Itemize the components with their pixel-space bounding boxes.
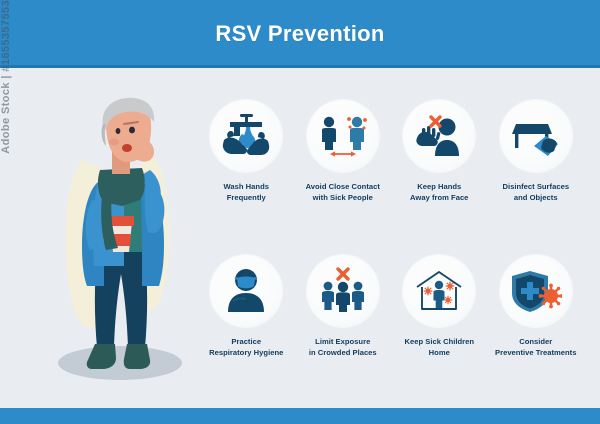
cheek-blush (109, 139, 119, 146)
social-distance-icon (317, 110, 369, 162)
tip-caption-line1: Practice (231, 337, 261, 346)
tip-icon-disc (307, 255, 379, 327)
tip-card-preventive-treatments[interactable]: Consider Preventive Treatments (488, 255, 585, 400)
eye (116, 128, 121, 134)
tip-caption-line1: Consider (519, 337, 552, 346)
tip-caption-line1: Keep Hands (417, 182, 461, 191)
tip-caption-line2: in Crowded Places (309, 348, 377, 357)
eye (129, 127, 135, 134)
tip-caption-line2: Respiratory Hygiene (209, 348, 283, 357)
tip-caption: Consider Preventive Treatments (489, 336, 583, 358)
tip-caption-line2: with Sick People (313, 193, 373, 202)
shield-cross-virus-icon (510, 265, 562, 317)
poster-header: RSV Prevention (0, 0, 600, 68)
tip-caption: Disinfect Surfaces and Objects (489, 181, 583, 203)
tip-card-hands-away-from-face[interactable]: Keep Hands Away from Face (391, 100, 488, 245)
person-healthy (322, 117, 336, 150)
tip-caption-line1: Keep Sick Children (404, 337, 474, 346)
tip-caption-line2: Preventive Treatments (495, 348, 576, 357)
tip-icon-disc (403, 255, 475, 327)
tip-card-respiratory-hygiene[interactable]: Practice Respiratory Hygiene (198, 255, 295, 400)
tip-caption-line2: and Objects (514, 193, 558, 202)
tip-icon-disc (210, 100, 282, 172)
tips-row-2: Practice Respiratory Hygiene (198, 255, 584, 400)
person-right (352, 282, 364, 310)
page-title: RSV Prevention (215, 21, 384, 47)
x-mark (431, 117, 440, 126)
shoe-left (87, 344, 116, 369)
poster-body: Wash Hands Frequently (0, 68, 600, 408)
no-touch-face-icon (413, 110, 465, 162)
reaching-hand (417, 126, 441, 146)
tip-icon-disc (210, 255, 282, 327)
tip-caption: Keep Sick Children Home (392, 336, 486, 358)
tip-caption-line1: Limit Exposure (315, 337, 370, 346)
virus-particle (538, 284, 561, 309)
house-person-virus-icon (413, 265, 465, 317)
tip-caption-line1: Avoid Close Contact (306, 182, 380, 191)
face-mask (237, 277, 255, 289)
tip-caption: Limit Exposure in Crowded Places (296, 336, 390, 358)
tip-caption-line2: Away from Face (410, 193, 468, 202)
tip-caption: Practice Respiratory Hygiene (199, 336, 293, 358)
tip-icon-disc (307, 100, 379, 172)
person-left (322, 282, 334, 310)
person-sick (350, 117, 364, 150)
tip-caption: Wash Hands Frequently (199, 181, 293, 203)
tip-caption-line1: Wash Hands (224, 182, 270, 191)
tip-card-wash-hands[interactable]: Wash Hands Frequently (198, 100, 295, 245)
tip-card-avoid-close-contact[interactable]: Avoid Close Contact with Sick People (295, 100, 392, 245)
wiping-cloth (534, 136, 558, 156)
tip-icon-disc (500, 255, 572, 327)
person-center (336, 282, 350, 312)
faucet-hands-icon (220, 110, 272, 162)
tip-card-sick-children-home[interactable]: Keep Sick Children Home (391, 255, 488, 400)
watermark-credit: Adobe Stock | #1655357553 (0, 0, 12, 154)
tip-card-limit-crowds[interactable]: Limit Exposure in Crowded Places (295, 255, 392, 400)
tip-icon-disc (500, 100, 572, 172)
tip-caption-line2: Home (429, 348, 450, 357)
tip-icon-disc (403, 100, 475, 172)
poster-footer (0, 408, 600, 424)
x-mark (338, 269, 348, 279)
tip-caption: Avoid Close Contact with Sick People (296, 181, 390, 203)
floor-shadow (58, 346, 182, 380)
tip-caption-line1: Disinfect Surfaces (502, 182, 569, 191)
infographic-poster: Adobe Adobe Adobe Adobe Adobe Adobe Adob… (0, 0, 600, 424)
tip-caption-line2: Frequently (227, 193, 266, 202)
shoe-right (124, 344, 150, 369)
masked-person-icon (220, 265, 272, 317)
tip-card-disinfect-surfaces[interactable]: Disinfect Surfaces and Objects (488, 100, 585, 245)
mouth-open (122, 144, 132, 152)
crowd-no-icon (317, 265, 369, 317)
illustration-elderly-man (48, 96, 198, 396)
prevention-tips-grid: Wash Hands Frequently (198, 100, 584, 400)
tip-caption: Keep Hands Away from Face (392, 181, 486, 203)
table-wipe-icon (510, 110, 562, 162)
person-inside (434, 281, 445, 308)
tips-row-1: Wash Hands Frequently (198, 100, 584, 245)
